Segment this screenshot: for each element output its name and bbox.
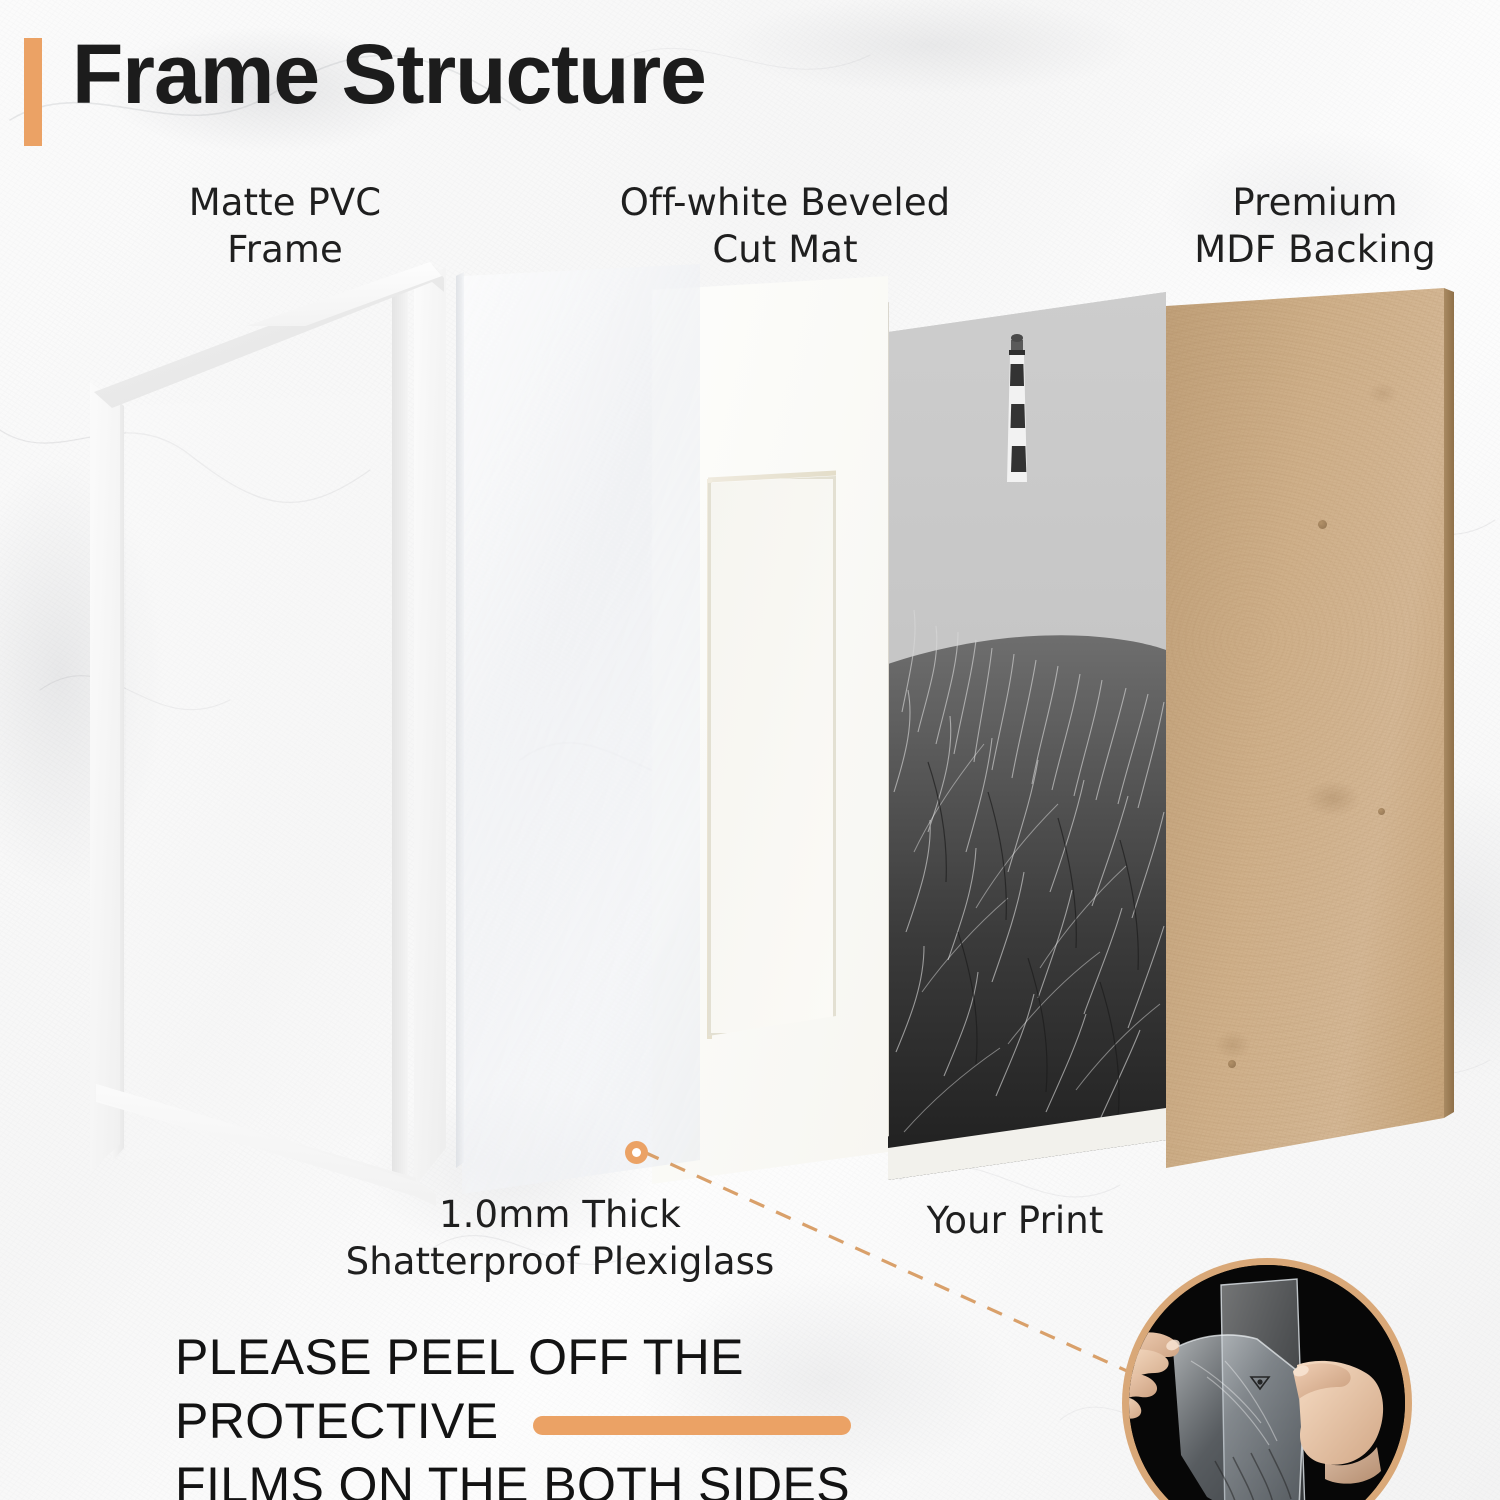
label-pvc-frame: Matte PVC Frame	[120, 180, 450, 273]
peel-notice-line2-highlight: BOTH SIDES	[543, 1457, 850, 1500]
label-your-print: Your Print	[870, 1198, 1160, 1245]
plexiglass-panel	[462, 264, 700, 1194]
label-mdf-backing: Premium MDF Backing	[1130, 180, 1500, 273]
callout-anchor-dot	[625, 1141, 648, 1164]
mdf-knot-mark	[1228, 1060, 1236, 1068]
frame-right-inner-lip	[392, 272, 408, 1206]
peel-film-illustration	[1129, 1265, 1405, 1500]
label-mdf-backing-line1: Premium	[1130, 180, 1500, 227]
label-plexiglass-line2: Shatterproof Plexiglass	[240, 1239, 880, 1286]
label-cut-mat-line1: Off-white Beveled	[560, 180, 1010, 227]
page-title: Frame Structure	[72, 28, 706, 120]
label-mdf-backing-line2: MDF Backing	[1130, 227, 1500, 274]
mdf-backing-panel	[1166, 288, 1444, 1168]
label-pvc-frame-line1: Matte PVC	[120, 180, 450, 227]
frame-inner-opening	[126, 392, 402, 1162]
title-accent-bar	[24, 38, 42, 146]
mat-window-opening	[708, 476, 836, 1036]
label-plexiglass-line1: 1.0mm Thick	[240, 1192, 880, 1239]
mdf-backing-edge	[1444, 286, 1454, 1170]
label-pvc-frame-line2: Frame	[120, 227, 450, 274]
mdf-knot-mark	[1318, 520, 1327, 529]
label-plexiglass: 1.0mm Thick Shatterproof Plexiglass	[240, 1192, 880, 1285]
plexiglass-sheen	[462, 264, 700, 1194]
mdf-knot-mark	[1378, 808, 1385, 815]
peel-notice-line2-prefix: FILMS ON THE	[175, 1457, 543, 1500]
mdf-texture	[1166, 288, 1444, 1168]
plexiglass-edge	[456, 272, 464, 1190]
label-cut-mat-line2: Cut Mat	[560, 227, 1010, 274]
notice-highlight-bar	[533, 1416, 851, 1435]
label-cut-mat: Off-white Beveled Cut Mat	[560, 180, 1010, 273]
print-photo-panel	[888, 292, 1166, 1180]
infographic-canvas: Frame Structure	[0, 0, 1500, 1500]
print-photo-artwork	[888, 292, 1166, 1180]
peel-notice: PLEASE PEEL OFF THE PROTECTIVE FILMS ON …	[175, 1325, 1055, 1500]
